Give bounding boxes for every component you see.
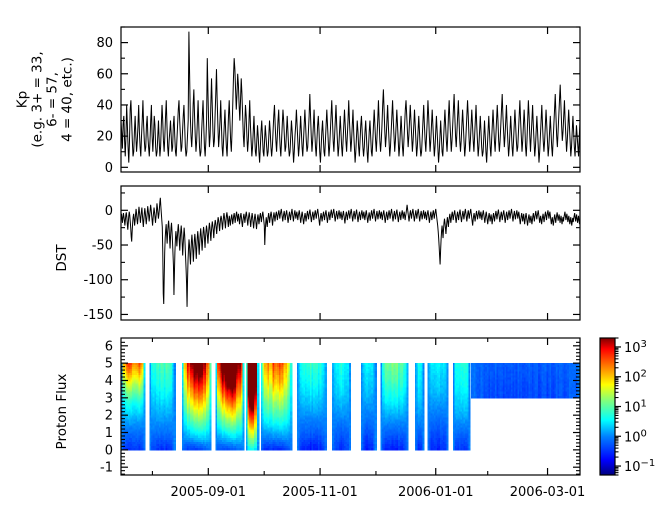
x-tick-label-3: 2006-03-01 xyxy=(510,485,586,500)
dst-axis-label: DST xyxy=(54,244,70,272)
kp-axis-label-line-0: Kp xyxy=(15,91,31,108)
pf-axis-label: Proton Flux xyxy=(54,374,70,450)
kp-panel: 020406080Kp(e.g. 3+ = 33,6- = 57,4 = 40,… xyxy=(15,27,581,176)
kp-axis-label: Kp(e.g. 3+ = 33,6- = 57,4 = 40, etc.) xyxy=(15,51,76,147)
colorbar-tick-label-1: 100 xyxy=(624,428,647,445)
pf-ytick-label-7: 6 xyxy=(105,339,113,354)
proton-flux-heatmap xyxy=(121,363,581,450)
x-tick-label-0: 2005-09-01 xyxy=(171,485,247,500)
figure-canvas: 020406080Kp(e.g. 3+ = 33,6- = 57,4 = 40,… xyxy=(0,0,665,523)
pf-ytick-label-1: 0 xyxy=(105,443,113,458)
colorbar-exponent: 3 xyxy=(641,339,647,350)
pf-ytick-label-5: 4 xyxy=(105,374,113,389)
pf-ytick-label-6: 5 xyxy=(105,357,113,372)
x-tick-label-1: 2005-11-01 xyxy=(282,485,358,500)
proton-flux-space-weather-figure: 020406080Kp(e.g. 3+ = 33,6- = 57,4 = 40,… xyxy=(0,0,665,523)
dst-ytick-label-1: -50 xyxy=(92,239,113,254)
kp-ytick-label-2: 40 xyxy=(96,98,113,113)
colorbar-gradient[interactable] xyxy=(600,338,615,475)
colorbar-tick-label-4: 103 xyxy=(624,339,647,356)
colorbar-tick-label-0: 10−1 xyxy=(624,458,655,475)
colorbar-exponent: −1 xyxy=(641,458,656,469)
x-tick-label-2: 2006-01-01 xyxy=(398,485,474,500)
pf-ytick-label-2: 1 xyxy=(105,426,113,441)
colorbar-tick-label-3: 102 xyxy=(624,369,647,386)
kp-ytick-label-0: 0 xyxy=(105,161,113,176)
dst-panel: 0-50-100-150DST xyxy=(54,186,580,323)
pf-ytick-label-4: 3 xyxy=(105,391,113,406)
dst-series-line xyxy=(121,198,580,307)
kp-ytick-label-4: 80 xyxy=(96,36,113,51)
dst-ytick-label-0: 0 xyxy=(105,204,113,219)
kp-axis-label-line-3: 4 = 40, etc.) xyxy=(60,57,76,142)
kp-ytick-label-3: 60 xyxy=(96,67,113,82)
kp-axis-label-line-2: 6- = 57, xyxy=(45,72,61,127)
kp-axis-label-line-1: (e.g. 3+ = 33, xyxy=(30,51,46,147)
proton-flux-panel: -10123456Proton Flux xyxy=(54,338,581,476)
colorbar-exponent: 1 xyxy=(641,399,647,410)
dst-ytick-label-2: -100 xyxy=(83,273,113,288)
colorbar-tick-label-2: 101 xyxy=(624,399,647,416)
dst-ytick-label-3: -150 xyxy=(83,308,113,323)
colorbar-exponent: 2 xyxy=(641,369,647,380)
pf-ytick-label-3: 2 xyxy=(105,409,113,424)
colorbar-exponent: 0 xyxy=(641,428,647,439)
kp-ytick-label-1: 20 xyxy=(96,130,113,145)
pf-ytick-label-0: -1 xyxy=(100,461,113,476)
proton-flux-colorbar[interactable]: 10−1100101102103 xyxy=(600,338,655,475)
kp-series-line xyxy=(121,32,580,163)
